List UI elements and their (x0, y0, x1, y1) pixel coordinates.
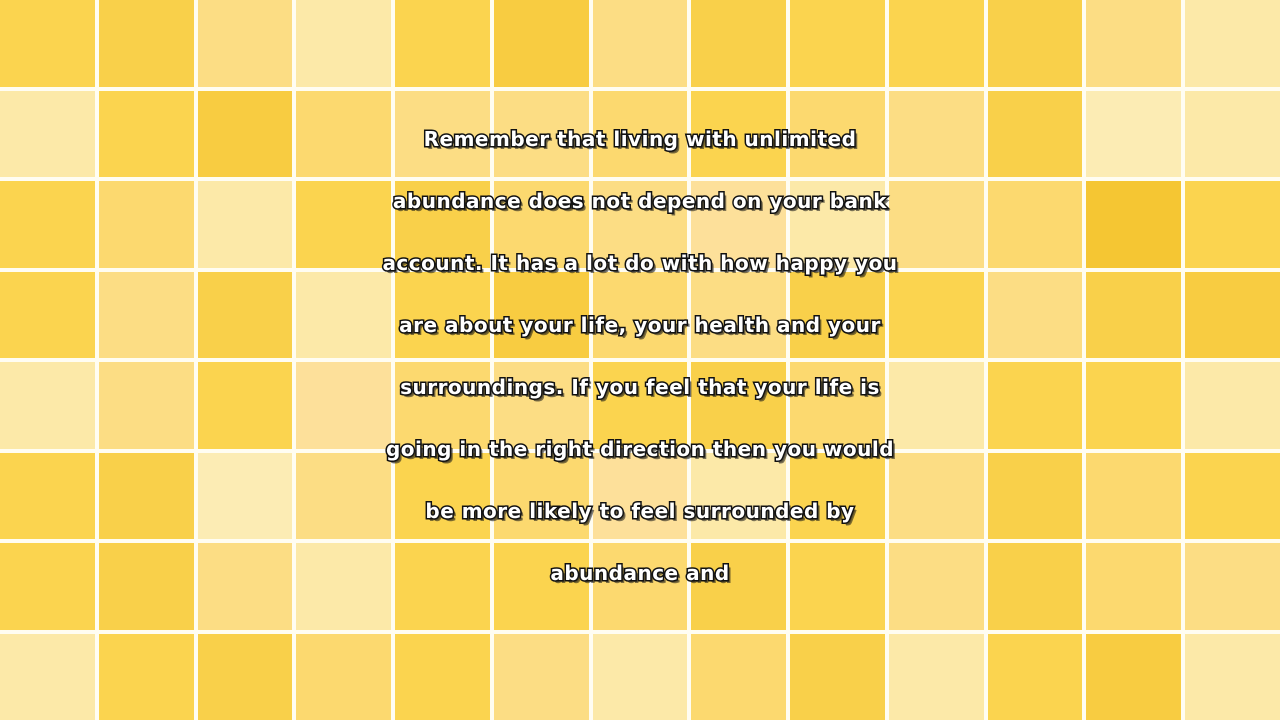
mosaic-tile (1185, 362, 1280, 449)
mosaic-tile (0, 0, 95, 87)
mosaic-tile (593, 543, 688, 630)
mosaic-tile (395, 634, 490, 720)
mosaic-tile (0, 362, 95, 449)
mosaic-tile (395, 543, 490, 630)
mosaic-tile (1185, 543, 1280, 630)
mosaic-tile (198, 0, 293, 87)
mosaic-tile (1185, 634, 1280, 720)
mosaic-tile (0, 543, 95, 630)
mosaic-tile (395, 91, 490, 178)
mosaic-tile (1185, 181, 1280, 268)
mosaic-tile (395, 0, 490, 87)
mosaic-tile (790, 0, 885, 87)
mosaic-tile (790, 181, 885, 268)
mosaic-tile (593, 453, 688, 540)
mosaic-tile (99, 272, 194, 359)
mosaic-tile (1086, 272, 1181, 359)
mosaic-tile (691, 543, 786, 630)
mosaic-tile (790, 453, 885, 540)
mosaic-tile (198, 634, 293, 720)
mosaic-tile (691, 453, 786, 540)
mosaic-tile (1185, 91, 1280, 178)
mosaic-tile (988, 543, 1083, 630)
mosaic-tile (0, 181, 95, 268)
mosaic-tile (395, 272, 490, 359)
mosaic-tile (1185, 0, 1280, 87)
mosaic-tile (593, 181, 688, 268)
mosaic-tile (0, 91, 95, 178)
mosaic-tile (99, 362, 194, 449)
mosaic-tile (296, 91, 391, 178)
mosaic-tile (889, 91, 984, 178)
mosaic-tile (593, 634, 688, 720)
mosaic-tile (1086, 362, 1181, 449)
mosaic-tile (198, 181, 293, 268)
mosaic-tile (395, 181, 490, 268)
mosaic-tile (988, 91, 1083, 178)
mosaic-tile (494, 362, 589, 449)
mosaic-tile (494, 543, 589, 630)
mosaic-tile (395, 362, 490, 449)
mosaic-tile (889, 362, 984, 449)
mosaic-tile (494, 91, 589, 178)
mosaic-tile (691, 272, 786, 359)
mosaic-tile (494, 272, 589, 359)
mosaic-tile (198, 362, 293, 449)
mosaic-tile (198, 453, 293, 540)
slide-canvas: Remember that living with unlimited abun… (0, 0, 1280, 720)
mosaic-tile (1086, 91, 1181, 178)
mosaic-tile (988, 362, 1083, 449)
mosaic-tile (395, 453, 490, 540)
mosaic-tile (790, 91, 885, 178)
mosaic-tile (988, 181, 1083, 268)
mosaic-tile (988, 453, 1083, 540)
mosaic-tile (1086, 453, 1181, 540)
mosaic-tile (198, 91, 293, 178)
mosaic-tile (296, 181, 391, 268)
mosaic-tile (198, 272, 293, 359)
mosaic-tile (1086, 543, 1181, 630)
mosaic-tile (1086, 181, 1181, 268)
mosaic-tile (99, 91, 194, 178)
mosaic-tile (691, 181, 786, 268)
mosaic-tile (0, 453, 95, 540)
mosaic-tile (691, 0, 786, 87)
mosaic-tile (296, 362, 391, 449)
mosaic-tile (790, 543, 885, 630)
mosaic-tile (296, 272, 391, 359)
mosaic-tile (1185, 453, 1280, 540)
mosaic-tile (99, 634, 194, 720)
mosaic-tile (494, 0, 589, 87)
mosaic-tile (790, 362, 885, 449)
mosaic-tile (889, 272, 984, 359)
mosaic-tile (296, 634, 391, 720)
mosaic-tile (99, 0, 194, 87)
mosaic-tile (889, 543, 984, 630)
mosaic-tile (593, 91, 688, 178)
mosaic-tile (1086, 0, 1181, 87)
mosaic-tile (889, 453, 984, 540)
mosaic-tile (988, 0, 1083, 87)
mosaic-tile (494, 634, 589, 720)
mosaic-tile (99, 181, 194, 268)
mosaic-tile (494, 453, 589, 540)
mosaic-tile (988, 272, 1083, 359)
mosaic-tile (691, 634, 786, 720)
mosaic-tile (889, 634, 984, 720)
mosaic-tile (0, 634, 95, 720)
mosaic-tile (296, 0, 391, 87)
mosaic-tile (99, 453, 194, 540)
mosaic-tile (790, 272, 885, 359)
mosaic-tile (691, 362, 786, 449)
mosaic-tile (296, 543, 391, 630)
mosaic-tile (889, 181, 984, 268)
mosaic-tile (494, 181, 589, 268)
mosaic-tile (0, 272, 95, 359)
mosaic-tile (593, 0, 688, 87)
mosaic-tile (889, 0, 984, 87)
mosaic-tile (1185, 272, 1280, 359)
mosaic-tile (593, 362, 688, 449)
mosaic-tile (99, 543, 194, 630)
mosaic-tile (691, 91, 786, 178)
mosaic-tile (790, 634, 885, 720)
mosaic-tile (198, 543, 293, 630)
mosaic-tile (988, 634, 1083, 720)
mosaic-tile (1086, 634, 1181, 720)
tile-mosaic-background (0, 0, 1280, 720)
mosaic-tile (593, 272, 688, 359)
mosaic-tile (296, 453, 391, 540)
